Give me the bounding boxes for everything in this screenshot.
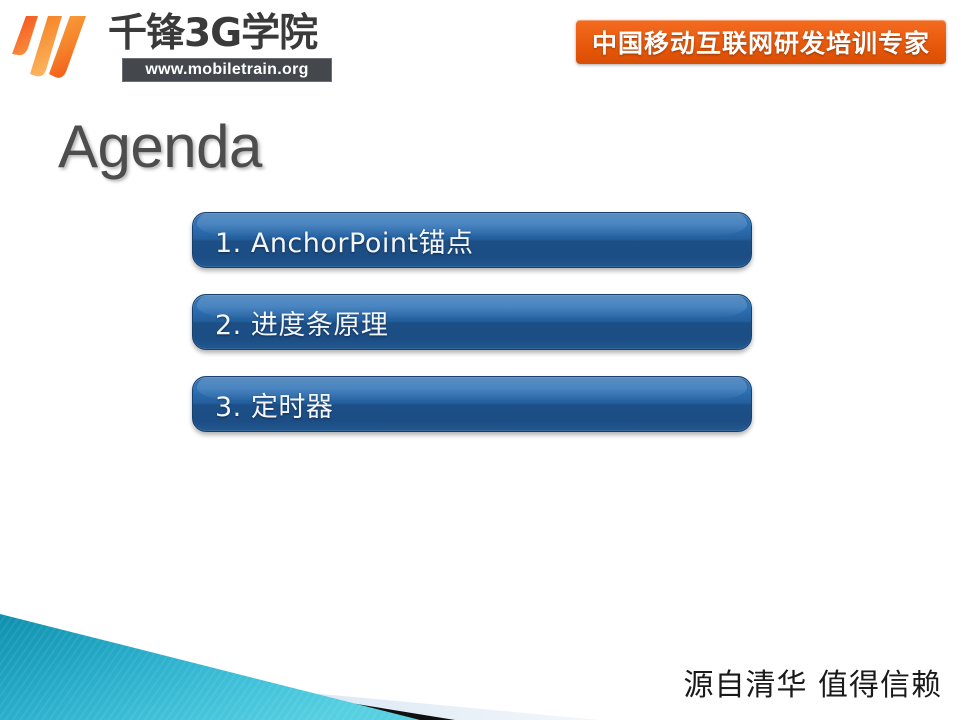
logo-url-bar[interactable]: www.mobiletrain.org (122, 58, 332, 82)
agenda-item-1[interactable]: 1. AnchorPoint锚点 (192, 212, 752, 268)
logo-wordmark-text: 千锋3G学院 (108, 11, 318, 54)
tagline-banner: 中国移动互联网研发培训专家 (576, 20, 946, 64)
agenda-item-label: 2. 进度条原理 (193, 303, 388, 342)
agenda-item-2[interactable]: 2. 进度条原理 (192, 294, 752, 350)
logo-wordmark: 千锋3G学院 (108, 10, 332, 54)
footer-slogan: 源自清华 值得信赖 (683, 660, 942, 704)
agenda-list: 1. AnchorPoint锚点 2. 进度条原理 3. 定时器 (192, 212, 752, 458)
agenda-item-label: 1. AnchorPoint锚点 (193, 221, 474, 260)
qianfeng-w-logo-icon (12, 10, 98, 82)
agenda-item-label: 3. 定时器 (193, 385, 333, 424)
page-title: Agenda (58, 112, 262, 181)
agenda-item-3[interactable]: 3. 定时器 (192, 376, 752, 432)
tagline-banner-text: 中国移动互联网研发培训专家 (592, 24, 930, 60)
slide-canvas: 千锋3G学院 www.mobiletrain.org 中国移动互联网研发培训专家… (0, 0, 960, 720)
brand-logo[interactable]: 千锋3G学院 www.mobiletrain.org (12, 6, 332, 86)
